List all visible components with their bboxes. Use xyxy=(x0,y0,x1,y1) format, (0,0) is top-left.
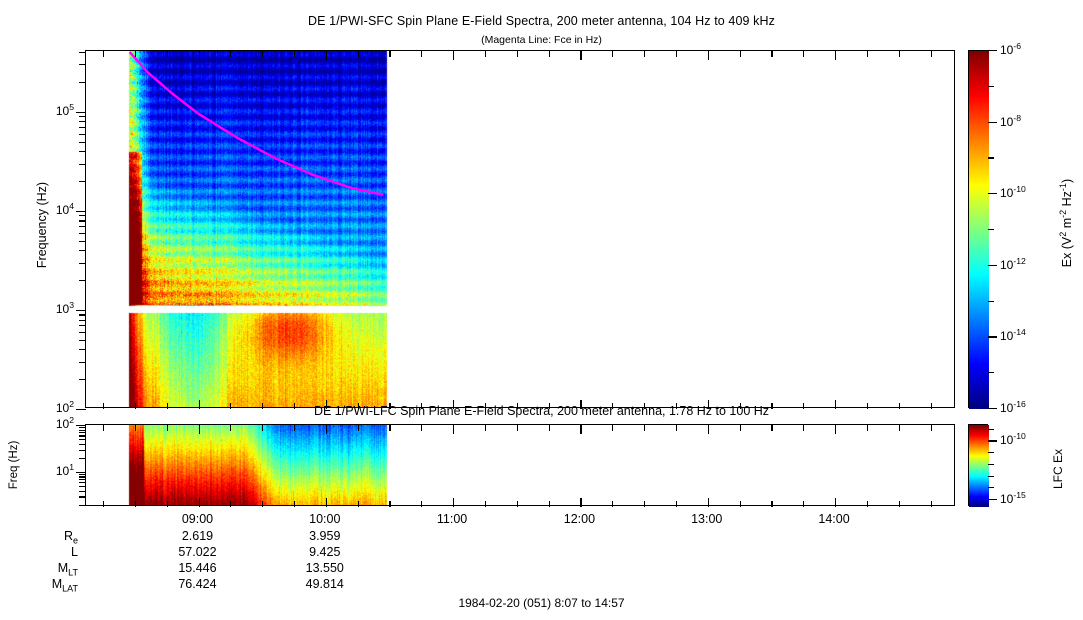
x-tick xyxy=(644,501,645,507)
x-tick-top xyxy=(644,425,645,431)
time-tick-label: 09:00 xyxy=(157,512,237,526)
sfc-y-tick xyxy=(79,116,86,117)
sfc-colorbar-tick xyxy=(988,193,997,194)
x-tick-top xyxy=(199,51,200,60)
x-tick xyxy=(708,498,709,507)
x-tick xyxy=(740,501,741,507)
x-tick-top xyxy=(835,425,836,434)
time-tick-label: 12:00 xyxy=(539,512,619,526)
x-tick-top xyxy=(517,51,518,57)
x-tick-top xyxy=(867,425,868,431)
x-tick-top xyxy=(262,51,263,57)
ephemeris-value: 76.424 xyxy=(157,577,237,591)
ephemeris-row: MLT15.44613.550 xyxy=(0,561,1083,577)
x-tick xyxy=(676,501,677,507)
time-tick-label-row: 09:0010:0011:0012:0013:0014:00 xyxy=(0,512,1083,529)
x-tick xyxy=(135,501,136,507)
fce-line-overlay xyxy=(86,51,954,407)
x-tick-top xyxy=(676,51,677,57)
sfc-colorbar-tick xyxy=(988,229,994,230)
x-tick xyxy=(262,501,263,507)
x-tick-top xyxy=(326,425,327,434)
sfc-colorbar-tick xyxy=(988,301,994,302)
x-tick-top xyxy=(803,425,804,431)
x-tick-top xyxy=(135,51,136,57)
x-tick xyxy=(358,501,359,507)
sfc-y-tick xyxy=(79,233,86,234)
x-tick-top xyxy=(740,425,741,431)
lfc-colorbar-tick xyxy=(988,464,994,465)
sfc-panel-title: DE 1/PWI-SFC Spin Plane E-Field Spectra,… xyxy=(0,14,1083,28)
sfc-colorbar-tick-label: 10-6 xyxy=(1000,41,1050,57)
x-tick xyxy=(230,501,231,507)
lfc-y-tick-label: 101 xyxy=(28,462,74,478)
lfc-colorbar-tick xyxy=(988,452,994,453)
ephemeris-rows: Re2.6193.959L57.0229.425MLT15.44613.550M… xyxy=(0,529,1083,593)
sfc-colorbar-tick-label: 10-8 xyxy=(1000,113,1050,129)
x-tick-top xyxy=(485,51,486,57)
lfc-y-tick xyxy=(79,482,86,483)
sfc-y-tick xyxy=(79,325,86,326)
x-tick-top xyxy=(708,51,709,60)
lfc-y-tick xyxy=(79,505,86,506)
sfc-y-tick xyxy=(79,220,86,221)
x-tick-top xyxy=(549,425,550,431)
x-tick-top xyxy=(294,51,295,57)
lfc-colorbar-tick xyxy=(988,440,997,441)
x-tick-top xyxy=(708,425,709,434)
x-tick-top xyxy=(803,51,804,57)
sfc-y-tick xyxy=(79,134,86,135)
x-tick xyxy=(803,501,804,507)
sfc-y-tick xyxy=(79,250,86,251)
sfc-y-tick xyxy=(79,320,86,321)
x-tick-top xyxy=(167,51,168,57)
sfc-y-tick-label: 104 xyxy=(22,201,74,217)
time-tick-label: 10:00 xyxy=(285,512,365,526)
time-tick-label: 14:00 xyxy=(794,512,874,526)
sfc-y-tick xyxy=(79,226,86,227)
sfc-y-tick xyxy=(79,314,86,315)
sfc-y-tick-label: 105 xyxy=(22,102,74,118)
x-tick xyxy=(326,498,327,507)
lfc-colorbar xyxy=(968,424,988,506)
sfc-y-tick xyxy=(79,263,86,264)
sfc-colorbar-tick xyxy=(988,336,997,337)
x-tick-top xyxy=(294,425,295,431)
x-tick-top xyxy=(740,51,741,57)
x-tick-top xyxy=(389,51,390,57)
lfc-spectrogram-image xyxy=(86,425,954,505)
lfc-y-tick xyxy=(79,486,86,487)
lfc-y-tick xyxy=(79,476,86,477)
x-tick-top xyxy=(899,425,900,431)
x-tick xyxy=(835,498,836,507)
x-tick xyxy=(549,501,550,507)
x-tick xyxy=(867,501,868,507)
x-tick-top xyxy=(262,425,263,431)
time-tick-label: 11:00 xyxy=(412,512,492,526)
sfc-y-tick-label: 103 xyxy=(22,300,74,316)
x-tick-top xyxy=(517,425,518,431)
sfc-y-tick xyxy=(79,64,86,65)
ephemeris-value: 15.446 xyxy=(157,561,237,575)
sfc-y-tick xyxy=(79,151,86,152)
sfc-colorbar-tick xyxy=(988,50,997,51)
lfc-colorbar-tick xyxy=(988,487,994,488)
lfc-colorbar-tick-label: 10-15 xyxy=(1000,490,1050,506)
x-tick xyxy=(294,501,295,507)
sfc-y-tick xyxy=(79,332,86,333)
ephemeris-row: L57.0229.425 xyxy=(0,545,1083,561)
x-tick-top xyxy=(167,425,168,431)
ephemeris-value: 57.022 xyxy=(157,545,237,559)
sfc-y-tick xyxy=(79,349,86,350)
x-tick xyxy=(931,501,932,507)
lfc-y-tick xyxy=(79,444,86,445)
lfc-y-tick xyxy=(76,472,86,473)
x-tick-top xyxy=(771,51,772,57)
sfc-panel-subtitle: (Magenta Line: Fce in Hz) xyxy=(0,34,1083,46)
x-tick-top xyxy=(549,51,550,57)
ephemeris-table: 09:0010:0011:0012:0013:0014:00 Re2.6193.… xyxy=(0,512,1083,593)
lfc-y-tick xyxy=(79,474,86,475)
x-tick xyxy=(580,498,581,507)
x-tick-top xyxy=(103,51,104,57)
ephemeris-row-label: MLT xyxy=(0,561,78,578)
x-tick-top xyxy=(644,51,645,57)
sfc-colorbar-tick xyxy=(988,86,994,87)
x-tick-top xyxy=(358,425,359,431)
x-tick-top xyxy=(580,51,581,60)
x-tick-top xyxy=(931,51,932,57)
lfc-y-tick xyxy=(79,479,86,480)
x-tick-top xyxy=(453,425,454,434)
ephemeris-row-label: Re xyxy=(0,529,78,546)
sfc-colorbar xyxy=(968,50,988,408)
x-tick-top xyxy=(230,425,231,431)
ephemeris-value: 3.959 xyxy=(285,529,365,543)
lfc-colorbar-gradient xyxy=(969,425,989,507)
lfc-y-tick xyxy=(79,432,86,433)
lfc-spectrogram-plot xyxy=(85,424,955,506)
lfc-colorbar-tick xyxy=(988,499,997,500)
x-tick-top xyxy=(771,425,772,431)
sfc-colorbar-tick xyxy=(988,265,997,266)
x-tick-top xyxy=(421,51,422,57)
lfc-colorbar-label: LFC Ex xyxy=(1051,414,1065,524)
time-tick-label: 13:00 xyxy=(667,512,747,526)
x-tick xyxy=(167,501,168,507)
lfc-y-tick xyxy=(79,491,86,492)
sfc-spectrogram-plot xyxy=(85,50,955,408)
lfc-y-axis-label: Freq (Hz) xyxy=(8,420,20,510)
lfc-colorbar-tick-label: 10-10 xyxy=(1000,431,1050,447)
sfc-y-tick xyxy=(79,362,86,363)
x-tick xyxy=(612,501,613,507)
sfc-y-tick xyxy=(79,340,86,341)
x-tick-top xyxy=(358,51,359,57)
lfc-y-tick xyxy=(79,450,86,451)
lfc-y-tick xyxy=(79,435,86,436)
sfc-colorbar-label: Ex (V2 m-2 Hz-1) xyxy=(1058,123,1074,323)
x-tick-top xyxy=(612,425,613,431)
x-tick xyxy=(389,501,390,507)
x-tick-top xyxy=(389,425,390,431)
ephemeris-row: MLAT76.42449.814 xyxy=(0,577,1083,593)
x-tick xyxy=(771,501,772,507)
x-tick xyxy=(517,501,518,507)
x-tick-top xyxy=(612,51,613,57)
sfc-y-tick xyxy=(79,127,86,128)
lfc-y-tick xyxy=(79,439,86,440)
sfc-y-tick xyxy=(79,82,86,83)
lfc-colorbar-tick xyxy=(988,476,994,477)
sfc-colorbar-tick xyxy=(988,157,994,158)
sfc-y-tick xyxy=(76,112,86,113)
date-caption: 1984-02-20 (051) 8:07 to 14:57 xyxy=(0,596,1083,610)
sfc-colorbar-tick-label: 10-12 xyxy=(1000,256,1050,272)
x-tick xyxy=(199,498,200,507)
sfc-colorbar-gradient xyxy=(969,51,989,409)
sfc-colorbar-tick xyxy=(988,122,997,123)
ephemeris-row: Re2.6193.959 xyxy=(0,529,1083,545)
sfc-colorbar-tick-label: 10-14 xyxy=(1000,327,1050,343)
sfc-y-axis-label: Frequency (Hz) xyxy=(35,145,49,305)
sfc-y-tick xyxy=(76,310,86,311)
x-tick-top xyxy=(899,51,900,57)
sfc-y-tick xyxy=(79,379,86,380)
x-tick-top xyxy=(421,425,422,431)
sfc-y-tick xyxy=(79,121,86,122)
x-tick-top xyxy=(867,51,868,57)
sfc-y-tick xyxy=(79,280,86,281)
sfc-colorbar-tick xyxy=(988,372,994,373)
x-tick xyxy=(453,498,454,507)
sfc-y-tick xyxy=(79,164,86,165)
lfc-y-tick xyxy=(79,430,86,431)
x-tick-top xyxy=(485,425,486,431)
lfc-y-tick xyxy=(79,458,86,459)
x-tick-top xyxy=(453,51,454,60)
x-tick-top xyxy=(326,51,327,60)
x-tick xyxy=(899,501,900,507)
sfc-y-tick xyxy=(76,211,86,212)
lfc-colorbar-tick xyxy=(988,429,994,430)
ephemeris-value: 2.619 xyxy=(157,529,237,543)
x-tick-top xyxy=(230,51,231,57)
x-tick-top xyxy=(135,425,136,431)
ephemeris-value: 9.425 xyxy=(285,545,365,559)
lfc-y-tick-label: 102 xyxy=(28,415,74,431)
sfc-y-tick xyxy=(79,181,86,182)
x-tick-top xyxy=(199,425,200,434)
x-tick xyxy=(103,501,104,507)
x-tick xyxy=(485,501,486,507)
lfc-y-tick xyxy=(79,496,86,497)
sfc-colorbar-tick-label: 10-10 xyxy=(1000,184,1050,200)
lfc-y-tick xyxy=(79,427,86,428)
x-tick-top xyxy=(931,425,932,431)
sfc-y-tick xyxy=(79,241,86,242)
sfc-y-tick xyxy=(79,142,86,143)
x-tick-top xyxy=(676,425,677,431)
sfc-y-tick xyxy=(79,215,86,216)
ephemeris-value: 13.550 xyxy=(285,561,365,575)
lfc-panel-title: DE 1/PWI-LFC Spin Plane E-Field Spectra,… xyxy=(0,404,1083,418)
ephemeris-row-label: L xyxy=(0,545,78,559)
ephemeris-value: 49.814 xyxy=(285,577,365,591)
lfc-y-tick xyxy=(76,425,86,426)
x-tick xyxy=(421,501,422,507)
ephemeris-row-label: MLAT xyxy=(0,577,78,594)
sfc-y-tick xyxy=(79,52,86,53)
x-tick-top xyxy=(580,425,581,434)
x-tick-top xyxy=(835,51,836,60)
x-tick-top xyxy=(103,425,104,431)
